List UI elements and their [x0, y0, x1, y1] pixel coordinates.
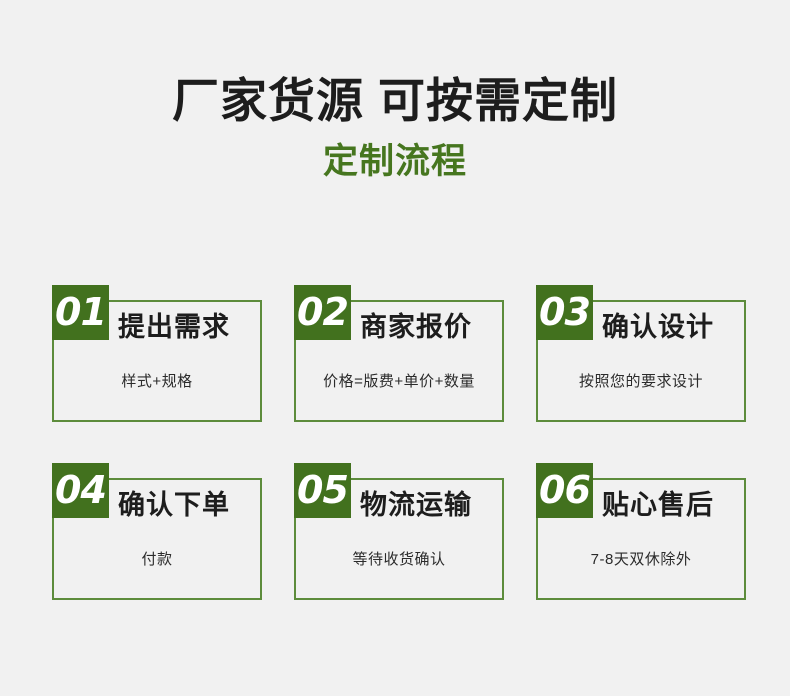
page-title: 厂家货源 可按需定制 [0, 74, 790, 128]
step-number-badge: 05 [294, 463, 351, 518]
step-number-badge: 01 [52, 285, 109, 340]
customization-process-banner: 厂家货源 可按需定制 定制流程 01 提出需求 样式+规格 02 商家报价 价格… [0, 0, 790, 696]
step-description: 等待收货确认 [294, 548, 504, 569]
step-number-badge: 04 [52, 463, 109, 518]
step-number-badge: 03 [536, 285, 593, 340]
step-description: 7-8天双休除外 [536, 548, 746, 569]
step-title: 确认下单 [118, 485, 230, 525]
step-number-badge: 02 [294, 285, 351, 340]
process-step-03: 03 确认设计 按照您的要求设计 [536, 285, 746, 440]
step-description: 付款 [52, 548, 262, 569]
step-title: 物流运输 [360, 485, 472, 525]
step-title: 提出需求 [118, 307, 230, 347]
step-title: 确认设计 [602, 307, 714, 347]
process-steps-grid: 01 提出需求 样式+规格 02 商家报价 价格=版费+单价+数量 03 确认设… [52, 285, 746, 618]
process-step-02: 02 商家报价 价格=版费+单价+数量 [294, 285, 504, 440]
process-step-04: 04 确认下单 付款 [52, 463, 262, 618]
process-step-05: 05 物流运输 等待收货确认 [294, 463, 504, 618]
process-step-06: 06 贴心售后 7-8天双休除外 [536, 463, 746, 618]
step-title: 商家报价 [360, 307, 472, 347]
step-title: 贴心售后 [602, 485, 714, 525]
process-step-01: 01 提出需求 样式+规格 [52, 285, 262, 440]
step-number-badge: 06 [536, 463, 593, 518]
page-subtitle: 定制流程 [0, 142, 790, 182]
banner-header: 厂家货源 可按需定制 定制流程 [0, 74, 790, 182]
step-description: 按照您的要求设计 [536, 370, 746, 391]
step-description: 样式+规格 [52, 370, 262, 391]
step-description: 价格=版费+单价+数量 [294, 370, 504, 391]
